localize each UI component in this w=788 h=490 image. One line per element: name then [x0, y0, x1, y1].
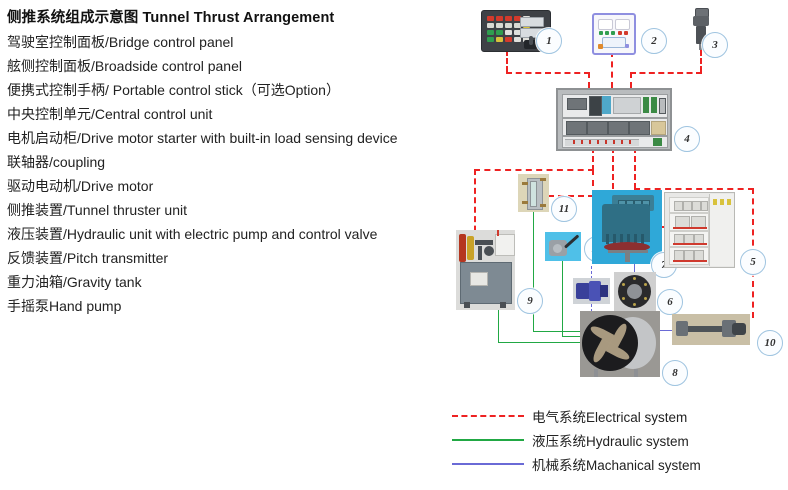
legend-key-hydraulic: 液压系统Hydraulic system — [452, 428, 782, 452]
callout-3[interactable]: 3 — [702, 32, 728, 58]
hydraulic-legend-label: 液压系统Hydraulic system — [532, 430, 689, 450]
list-item-5: 电机启动柜/Drive motor starter with built-in … — [7, 126, 462, 150]
photo-pitch-servo-block[interactable] — [573, 278, 610, 304]
list-item-2: 舷侧控制面板/Broadside control panel — [7, 54, 462, 78]
photo-drive-motor-starter[interactable] — [664, 192, 735, 268]
gravity-tank-sight-glass — [530, 181, 537, 207]
legend-key-mechanical: 机械系统Machanical system — [452, 452, 782, 476]
photo-coupling[interactable] — [614, 272, 656, 311]
ccu-bay-upper — [562, 94, 668, 118]
list-item-11: 重力油箱/Gravity tank — [7, 270, 462, 294]
list-item-8: 侧推装置/Tunnel thruster unit — [7, 198, 462, 222]
transmitter-cylinder — [732, 323, 746, 335]
hydraulic-valve-handwheel[interactable] — [484, 246, 494, 256]
mechanical-line-swatch — [452, 463, 524, 465]
starter-shelf-3 — [669, 231, 709, 247]
mechanical-legend-label: 机械系统Machanical system — [532, 454, 701, 474]
ccu-bay-terminal — [562, 136, 668, 148]
photo-drive-motor[interactable] — [592, 190, 662, 264]
system-legend: 电气系统Electrical system 液压系统Hydraulic syst… — [452, 404, 782, 476]
hydraulic-link-hand-pump — [562, 260, 563, 337]
ccu-bay-middle — [562, 118, 668, 136]
legend-key-electrical: 电气系统Electrical system — [452, 404, 782, 428]
callout-2[interactable]: 2 — [641, 28, 667, 54]
callout-1[interactable]: 1 — [536, 28, 562, 54]
electrical-legend-label: 电气系统Electrical system — [532, 406, 687, 426]
hydraulic-link-handpump-to-thruster — [562, 336, 581, 337]
broadside-window-right — [615, 19, 630, 30]
starter-shelf-4 — [669, 247, 709, 265]
hydraulic-link-gravity-to-thruster — [533, 331, 581, 332]
photo-gravity-tank[interactable] — [518, 174, 549, 212]
electrical-link-stick-drop — [630, 72, 632, 88]
callout-4[interactable]: 4 — [674, 126, 700, 152]
callout-9[interactable]: 9 — [517, 288, 543, 314]
electrical-link-motor-drop — [612, 147, 614, 189]
photo-central-control-unit[interactable] — [556, 88, 672, 151]
electrical-link-stick-horizontal — [630, 72, 702, 74]
electrical-bus-right-drop — [634, 147, 636, 189]
photo-hydraulic-unit[interactable] — [456, 230, 515, 310]
hydraulic-nameplate — [470, 272, 488, 286]
hydraulic-filter-red — [459, 234, 466, 262]
list-item-12: 手摇泵Hand pump — [7, 294, 462, 318]
electrical-link-stick-vertical — [700, 50, 702, 72]
callout-8[interactable]: 8 — [662, 360, 688, 386]
callout-6[interactable]: 6 — [657, 289, 683, 315]
starter-shelf-2 — [669, 213, 709, 231]
callout-5[interactable]: 5 — [740, 249, 766, 275]
photo-tunnel-thruster-unit[interactable] — [580, 311, 660, 377]
electrical-bus-left-run — [474, 169, 594, 171]
component-list: 侧推系统组成示意图 Tunnel Thrust Arrangement 驾驶室控… — [7, 6, 462, 318]
electrical-link-panel1-vertical — [506, 50, 508, 72]
hydraulic-filter-yellow — [467, 236, 474, 260]
broadside-knob[interactable] — [602, 37, 626, 48]
callout-10[interactable]: 10 — [757, 330, 783, 356]
electrical-stub-gravity-tank — [548, 195, 594, 197]
photo-broadside-control-panel[interactable] — [592, 13, 636, 55]
electrical-link-panel2 — [611, 51, 613, 88]
hydraulic-link-gravity-tank — [533, 212, 534, 332]
electrical-line-swatch — [452, 415, 524, 417]
list-item-3: 便携式控制手柄/ Portable control stick（可选Option… — [7, 78, 462, 102]
page-title: 侧推系统组成示意图 Tunnel Thrust Arrangement — [7, 6, 462, 30]
callout-11[interactable]: 11 — [551, 196, 577, 222]
starter-shelf-1 — [669, 197, 709, 213]
photo-hand-pump[interactable] — [545, 232, 581, 261]
coupling-hub — [627, 284, 642, 299]
panel-display-upper — [520, 17, 544, 27]
electrical-link-panel1-horizontal — [506, 72, 590, 74]
hydraulic-control-box[interactable] — [495, 234, 515, 256]
photo-pitch-transmitter[interactable] — [672, 314, 750, 345]
stick-body — [693, 16, 709, 26]
list-item-7: 驱动电动机/Drive motor — [7, 174, 462, 198]
list-item-4: 中央控制单元/Central control unit — [7, 102, 462, 126]
list-item-10: 反馈装置/Pitch transmitter — [7, 246, 462, 270]
hand-pump-hub — [553, 244, 562, 253]
electrical-link-panel1-drop — [588, 72, 590, 88]
transmitter-block-left — [676, 321, 688, 336]
hydraulic-link-powerunit-to-thruster — [498, 342, 581, 343]
list-item-9: 液压装置/Hydraulic unit with electric pump a… — [7, 222, 462, 246]
list-item-1: 驾驶室控制面板/Bridge control panel — [7, 30, 462, 54]
list-item-6: 联轴器/coupling — [7, 150, 462, 174]
hydraulic-line-swatch — [452, 439, 524, 441]
broadside-window-left — [598, 19, 613, 30]
